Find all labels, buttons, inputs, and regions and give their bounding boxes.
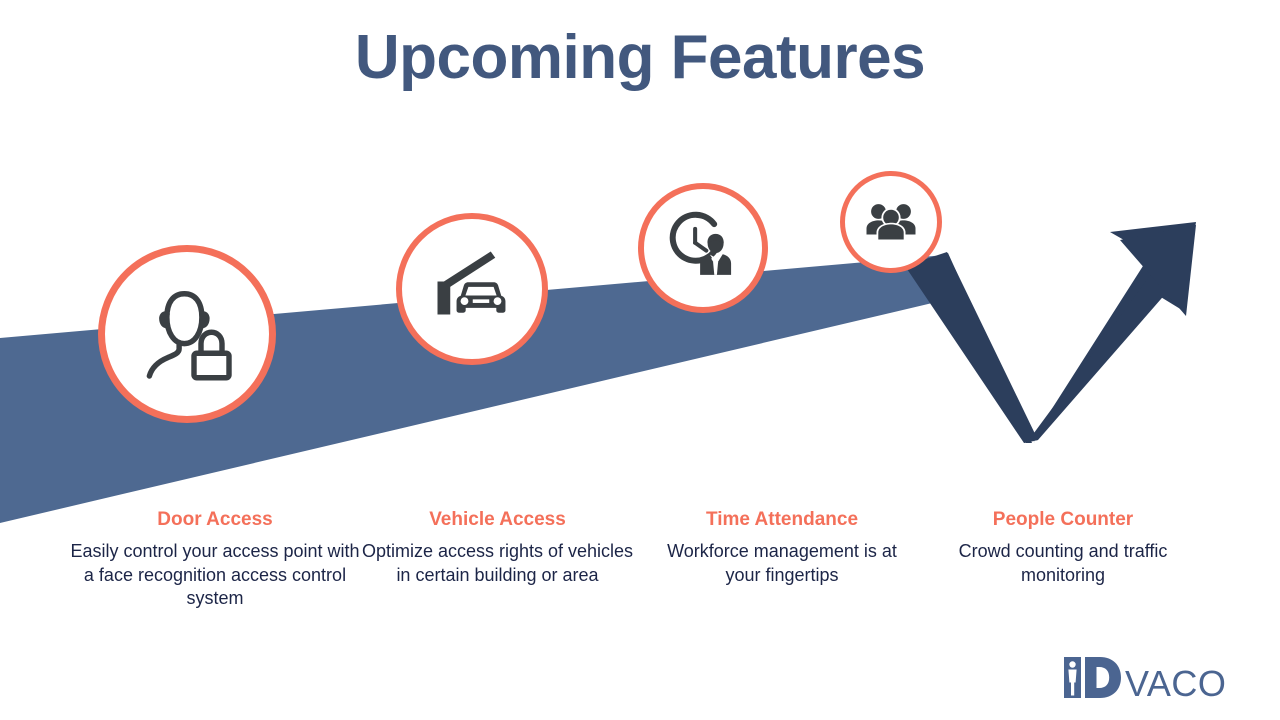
caption-time-attendance: Time Attendance Workforce management is … (648, 508, 916, 587)
idvaco-logo: VACO (1062, 654, 1248, 702)
clock-with-businessperson-icon (661, 206, 745, 290)
feature-circle-door-access[interactable] (98, 245, 276, 423)
caption-title-time-attendance: Time Attendance (648, 508, 916, 532)
navy-arrow-strokes (905, 225, 1196, 443)
person-with-padlock-icon (131, 278, 243, 390)
idvaco-logo-mark: VACO (1062, 653, 1248, 703)
caption-title-people-counter: People Counter (932, 508, 1194, 532)
svg-text:VACO: VACO (1125, 663, 1226, 703)
feature-circle-vehicle-access[interactable] (396, 213, 548, 365)
caption-body-people-counter: Crowd counting and traffic monitoring (932, 540, 1194, 588)
caption-body-vehicle-access: Optimize access rights of vehicles in ce… (360, 540, 635, 588)
feature-circle-time-attendance[interactable] (638, 183, 768, 313)
slide-canvas: Upcoming Features (0, 0, 1280, 720)
barrier-gate-with-car-icon (424, 241, 520, 337)
caption-body-door-access: Easily control your access point with a … (70, 540, 360, 611)
group-of-people-icon (859, 190, 923, 254)
caption-people-counter: People Counter Crowd counting and traffi… (932, 508, 1194, 587)
caption-title-door-access: Door Access (70, 508, 360, 532)
caption-body-time-attendance: Workforce management is at your fingerti… (648, 540, 916, 588)
caption-title-vehicle-access: Vehicle Access (360, 508, 635, 532)
caption-vehicle-access: Vehicle Access Optimize access rights of… (360, 508, 635, 587)
caption-door-access: Door Access Easily control your access p… (70, 508, 360, 611)
feature-circle-people-counter[interactable] (840, 171, 942, 273)
